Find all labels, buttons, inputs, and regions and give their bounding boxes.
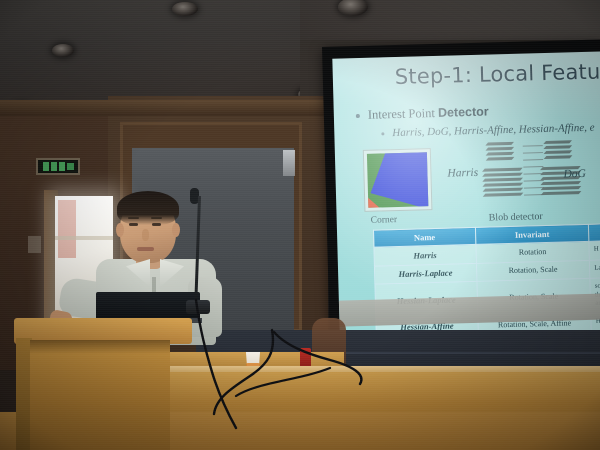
corner-figure-caption: Corner [371, 215, 398, 226]
presenter-eye-left [129, 223, 138, 226]
corner-plot [367, 152, 428, 208]
photo-scene: Step-1: Local Features Interest Point De… [0, 0, 600, 450]
window-reflection [58, 200, 76, 258]
pyramid-top-right [545, 140, 572, 161]
pyramid-top-left [487, 142, 514, 163]
pyramid-arrows-icon [523, 145, 547, 204]
presenter-hair [117, 191, 179, 225]
presenter-nose [142, 229, 149, 241]
blob-figure-label: DoG [563, 168, 586, 181]
presenter-mouth [137, 247, 154, 251]
wall-trim [0, 100, 340, 116]
presenter-eye-right [152, 223, 161, 226]
podium-shadow [30, 340, 170, 354]
bullet-1-normal: Interest Point [368, 106, 438, 122]
blob-figure-caption: Blob detector [489, 211, 543, 223]
exit-sign [36, 158, 80, 175]
pyramid-bottom-left [483, 168, 522, 199]
microphone-base [186, 300, 210, 314]
cell-detail: Laplacian [590, 258, 600, 279]
slide-bullet-1: Interest Point Detector [368, 105, 489, 123]
corner-plot-blue-region [367, 152, 428, 208]
ceiling-light-icon [52, 44, 74, 57]
slide-title: Step-1: Local Features [395, 59, 600, 89]
podium [30, 340, 170, 450]
presenter-ear-right [172, 223, 180, 237]
projection-screen: Step-1: Local Features Interest Point De… [332, 51, 600, 350]
presenter-ear-left [116, 223, 124, 237]
bullet-1-bold: Detector [438, 105, 489, 120]
door-handle [283, 150, 295, 176]
presenter-brow-right [151, 217, 162, 219]
cell-detail: H [589, 239, 600, 260]
corner-figure-label: Harris [447, 167, 478, 180]
slide-bullet-2: Harris, DoG, Harris-Affine, Hessian-Affi… [392, 122, 595, 139]
projection-screen-frame: Step-1: Local Features Interest Point De… [322, 39, 600, 365]
ceiling-light-icon [172, 2, 198, 16]
corner-figure [363, 148, 433, 212]
light-switch[interactable] [28, 236, 41, 253]
presenter-brow-left [128, 217, 139, 219]
table-header-detail: H [589, 222, 600, 241]
